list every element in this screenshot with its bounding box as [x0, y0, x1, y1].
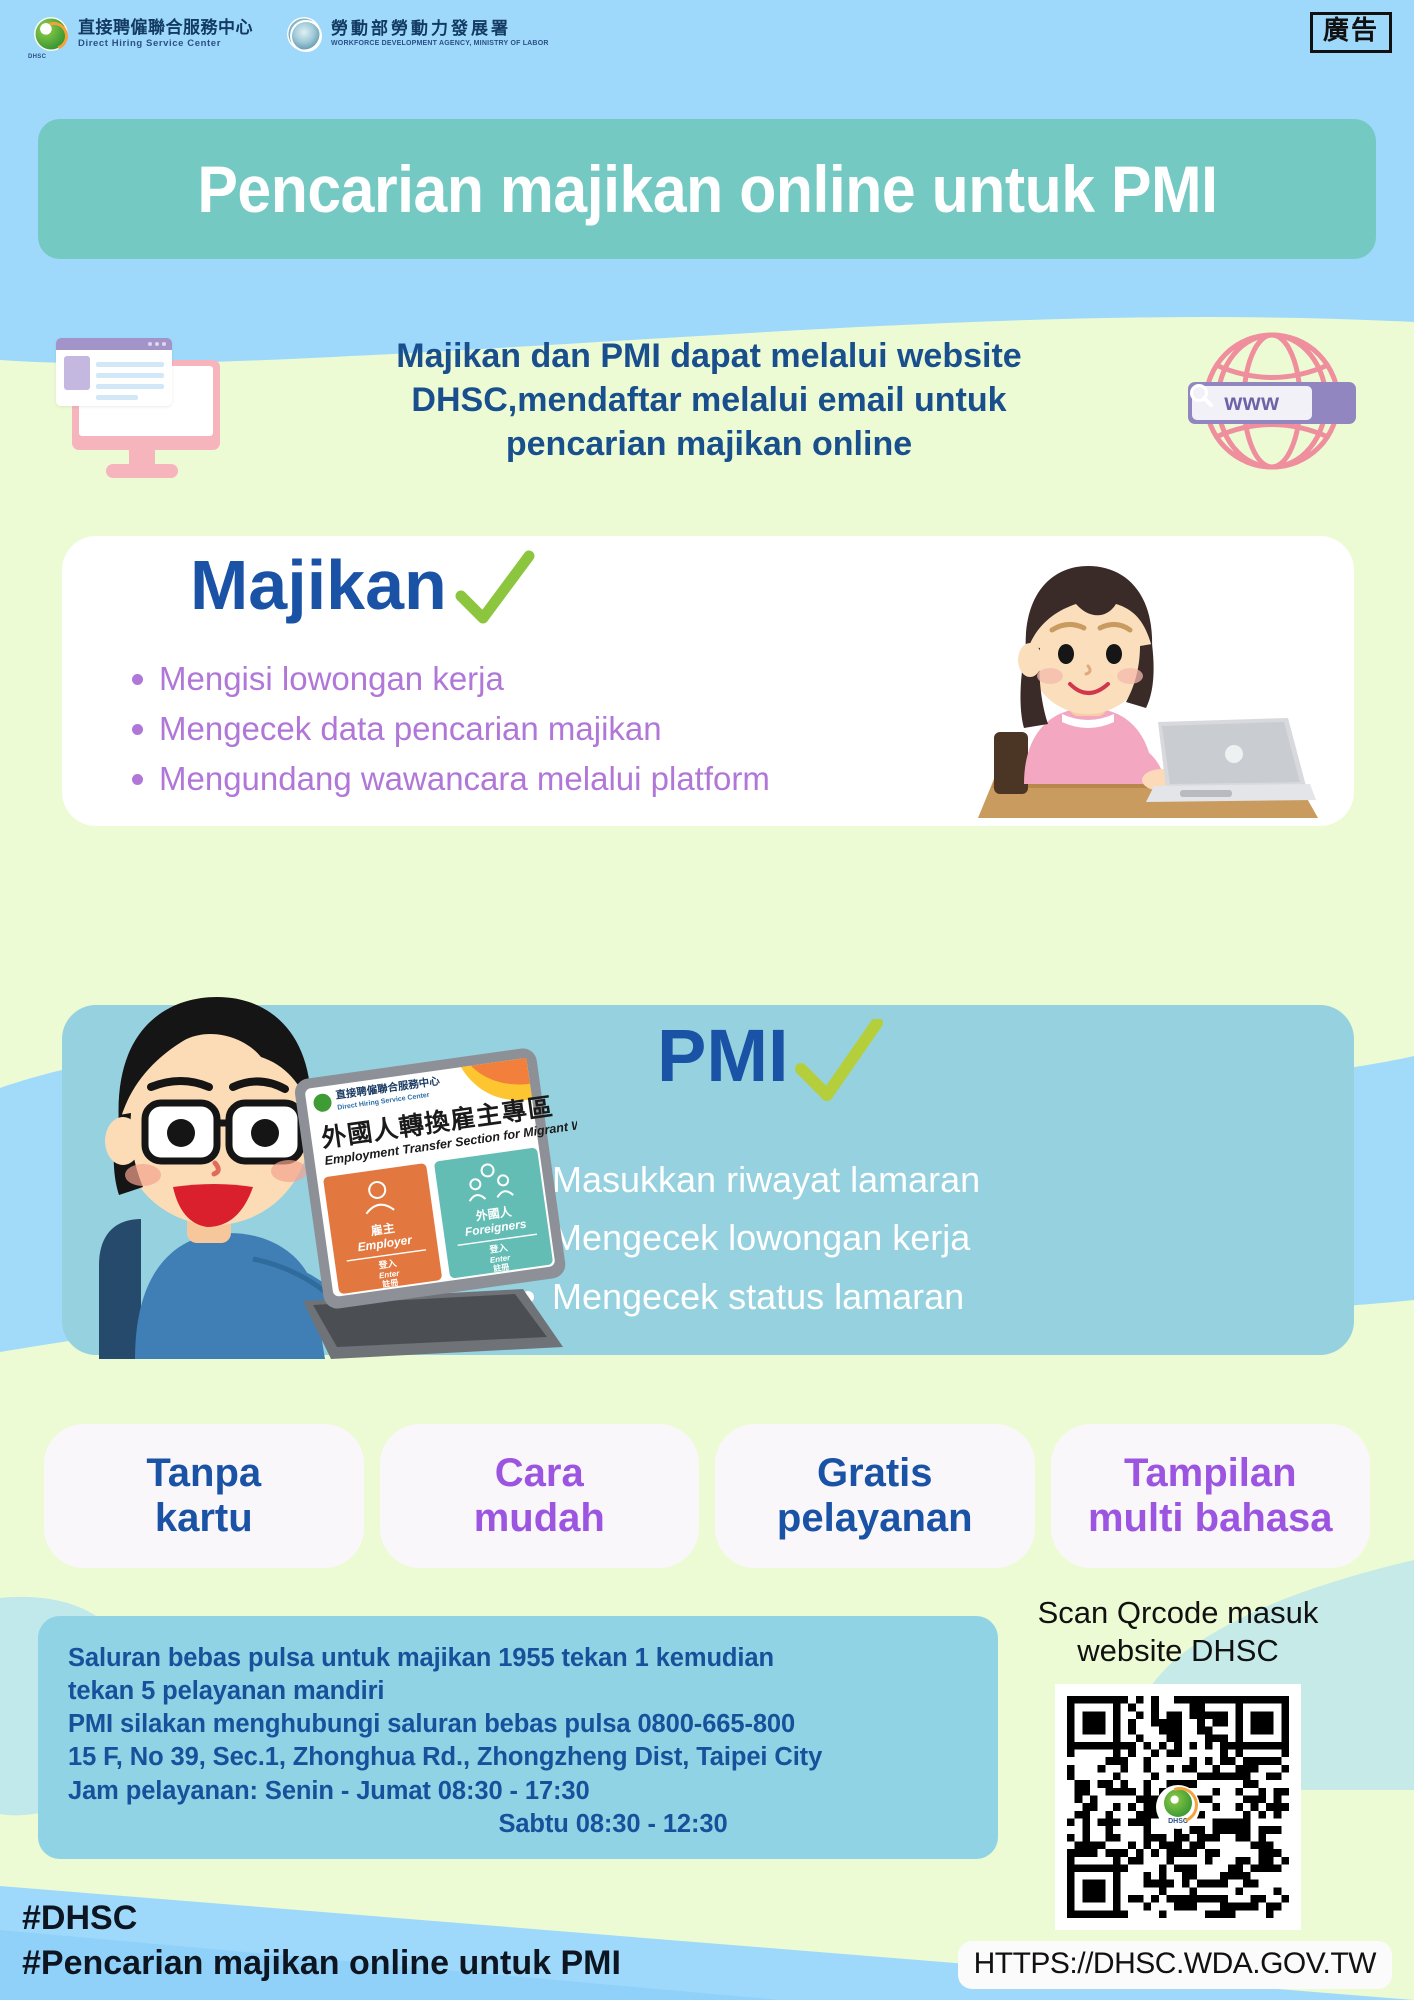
majikan-item-2: Mengundang wawancara melalui platform — [159, 754, 770, 804]
pmi-card: PMI Masukkan riwayat lamaran Mengecek lo… — [62, 1005, 1354, 1355]
logo-wda: 勞動部勞動力發展署 WORKFORCE DEVELOPMENT AGENCY, … — [287, 17, 549, 51]
bullet-icon — [132, 724, 143, 735]
website-url[interactable]: HTTPS://DHSC.WDA.GOV.TW — [958, 1941, 1392, 1989]
pill-tanpa-kartu: Tanpa kartu — [44, 1424, 364, 1568]
qr-caption: Scan Qrcode masuk website DHSC — [978, 1594, 1378, 1670]
list-item: Mengecek status lamaran — [522, 1268, 980, 1326]
list-item: Mengisi lowongan kerja — [132, 654, 770, 704]
pill-2-line2: pelayanan — [777, 1496, 973, 1541]
check-icon — [793, 1019, 885, 1116]
majikan-item-0: Mengisi lowongan kerja — [159, 654, 504, 704]
pmi-item-1: Mengecek lowongan kerja — [552, 1209, 970, 1267]
pmi-item-2: Mengecek status lamaran — [552, 1268, 964, 1326]
man-at-laptop-illustration: 直接聘僱聯合服務中心 Direct Hiring Service Center … — [57, 965, 577, 1365]
pill-gratis-pelayanan: Gratis pelayanan — [715, 1424, 1035, 1568]
wda-name-en: WORKFORCE DEVELOPMENT AGENCY, MINISTRY O… — [331, 40, 549, 47]
majikan-feature-list: Mengisi lowongan kerja Mengecek data pen… — [132, 654, 770, 804]
wda-name-cn: 勞動部勞動力發展署 — [331, 20, 549, 38]
qr-center-logo: DHSC — [1156, 1785, 1200, 1829]
hashtag-campaign: #Pencarian majikan online untuk PMI — [22, 1941, 621, 1986]
header-bar: DHSC 直接聘僱聯合服務中心 Direct Hiring Service Ce… — [0, 0, 1414, 68]
contact-line-1: Saluran bebas pulsa untuk majikan 1955 t… — [68, 1642, 968, 1675]
dhsc-name-cn: 直接聘僱聯合服務中心 — [78, 19, 253, 37]
woman-at-laptop-illustration — [966, 536, 1336, 826]
monitor-browser-icon — [46, 318, 236, 483]
poster-root: DHSC 直接聘僱聯合服務中心 Direct Hiring Service Ce… — [0, 0, 1414, 2000]
pmi-feature-list: Masukkan riwayat lamaran Mengecek lowong… — [522, 1151, 980, 1326]
pill-1-line1: Cara — [495, 1451, 584, 1496]
list-item: Masukkan riwayat lamaran — [522, 1151, 980, 1209]
pill-tampilan-multi-bahasa: Tampilan multi bahasa — [1051, 1424, 1371, 1568]
feature-pills: Tanpa kartu Cara mudah Gratis pelayanan … — [0, 1424, 1414, 1568]
list-item: Mengecek lowongan kerja — [522, 1209, 980, 1267]
logo-dhsc: DHSC 直接聘僱聯合服務中心 Direct Hiring Service Ce… — [34, 17, 253, 51]
intro-line-2: DHSC,mendaftar melalui email untuk — [256, 378, 1162, 422]
contact-line-2: tekan 5 pelayanan mandiri — [68, 1675, 968, 1708]
intro-line-3: pencarian majikan online — [256, 422, 1162, 466]
pill-3-line2: multi bahasa — [1088, 1496, 1333, 1541]
hashtag-dhsc: #DHSC — [22, 1896, 621, 1941]
majikan-item-1: Mengecek data pencarian majikan — [159, 704, 662, 754]
globe-search-bar: www — [1188, 382, 1356, 424]
contact-line-4: 15 F, No 39, Sec.1, Zhonghua Rd., Zhongz… — [68, 1741, 968, 1774]
globe-www-search-icon: www — [1182, 318, 1362, 483]
dhsc-logo-sublabel: DHSC — [28, 54, 46, 60]
list-item: Mengundang wawancara melalui platform — [132, 754, 770, 804]
majikan-heading: Majikan — [190, 550, 447, 620]
pill-1-line2: mudah — [474, 1496, 605, 1541]
contact-line-3: PMI silakan menghubungi saluran bebas pu… — [68, 1708, 968, 1741]
contact-line-5: Jam pelayanan: Senin - Jumat 08:30 - 17:… — [68, 1775, 968, 1808]
bullet-icon — [132, 774, 143, 785]
contact-line-6: Sabtu 08:30 - 12:30 — [68, 1808, 968, 1841]
pmi-item-0: Masukkan riwayat lamaran — [552, 1151, 980, 1209]
advertisement-badge: 廣告 — [1310, 12, 1392, 53]
pill-2-line1: Gratis — [817, 1451, 933, 1496]
page-title: Pencarian majikan online untuk PMI — [197, 151, 1217, 227]
qr-section: Scan Qrcode masuk website DHSC DHSC — [978, 1594, 1378, 1930]
majikan-card: Majikan Mengisi lowongan kerja Mengecek … — [62, 536, 1354, 826]
intro-section: Majikan dan PMI dapat melalui website DH… — [0, 300, 1414, 500]
contact-info-box: Saluran bebas pulsa untuk majikan 1955 t… — [38, 1616, 998, 1859]
pill-0-line2: kartu — [155, 1496, 253, 1541]
pill-3-line1: Tampilan — [1124, 1451, 1297, 1496]
wda-logo-icon — [287, 17, 321, 51]
pmi-heading-row: PMI — [657, 1019, 885, 1116]
majikan-heading-row: Majikan — [190, 550, 537, 641]
bullet-icon — [132, 674, 143, 685]
hashtags: #DHSC #Pencarian majikan online untuk PM… — [22, 1896, 621, 1986]
pill-0-line1: Tanpa — [146, 1451, 261, 1496]
qr-caption-line1: Scan Qrcode masuk — [978, 1594, 1378, 1632]
pmi-heading: PMI — [657, 1019, 789, 1093]
dhsc-name-en: Direct Hiring Service Center — [78, 39, 253, 49]
list-item: Mengecek data pencarian majikan — [132, 704, 770, 754]
intro-text: Majikan dan PMI dapat melalui website DH… — [236, 334, 1182, 467]
pill-cara-mudah: Cara mudah — [380, 1424, 700, 1568]
check-icon — [451, 550, 537, 641]
qr-caption-line2: website DHSC — [978, 1632, 1378, 1670]
title-banner: Pencarian majikan online untuk PMI — [38, 119, 1376, 259]
intro-line-1: Majikan dan PMI dapat melalui website — [256, 334, 1162, 378]
dhsc-logo-icon: DHSC — [34, 17, 68, 51]
qr-code[interactable]: DHSC — [1055, 1684, 1301, 1930]
